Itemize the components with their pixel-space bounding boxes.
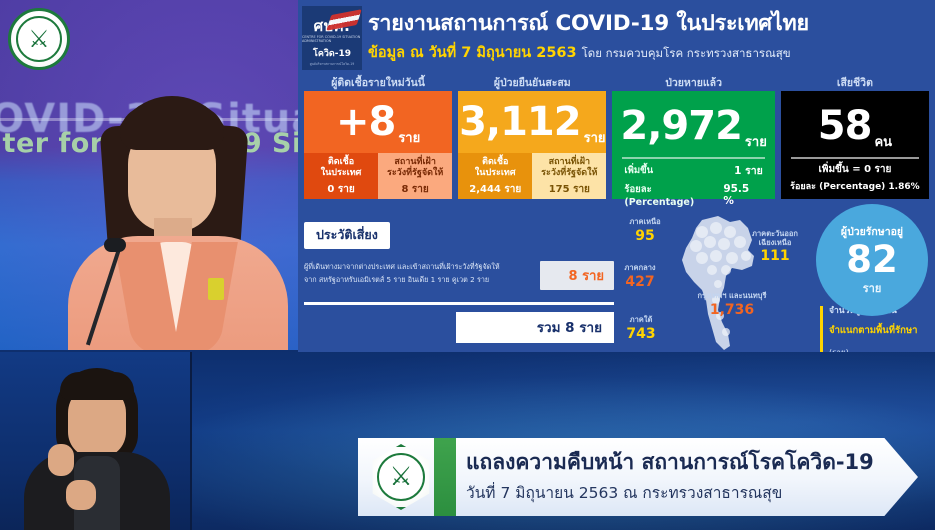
interpreter-hand-lower bbox=[66, 480, 96, 510]
map-label-south: ภาคใต้ 743 bbox=[612, 316, 670, 342]
risk-history-rule bbox=[304, 302, 614, 305]
new-cases-domestic: ติดเชื้อ ในประเทศ 0 ราย bbox=[304, 153, 378, 199]
report-date: ข้อมูล ณ วันที่ 7 มิถุนายน 2563 bbox=[368, 45, 577, 61]
total-cases-domestic: ติดเชื้อ ในประเทศ 2,444 ราย bbox=[458, 153, 532, 199]
region-value: 1,736 bbox=[672, 302, 792, 318]
deaths-caption: เสียชีวิต bbox=[781, 76, 929, 91]
map-label-central: ภาคกลาง 427 bbox=[608, 264, 672, 290]
label-line2: ระวังที่รัฐจัดให้ bbox=[541, 168, 597, 178]
label-line2: ระวังที่รัฐจัดให้ bbox=[387, 168, 443, 178]
label-line1: ติดเชื้อ bbox=[328, 157, 354, 167]
sbc-logo-sub: โควิด-19 bbox=[313, 46, 351, 60]
deaths-box: 58 คน เพิ่มขึ้น = 0 ราย ร้อยละ (Percenta… bbox=[781, 91, 929, 199]
label-line1: ติดเชื้อ bbox=[482, 157, 508, 167]
seal-inner-ring: ⚔ bbox=[377, 453, 425, 501]
total-cases-caption: ผู้ป่วยยืนยันสะสม bbox=[458, 76, 606, 91]
risk-history-tab: ประวัติเสี่ยง bbox=[304, 222, 390, 249]
region-name-line2: เฉียงเหนือ bbox=[734, 239, 816, 248]
new-cases-quarantine: สถานที่เฝ้า ระวังที่รัฐจัดให้ 8 ราย bbox=[378, 153, 452, 199]
stat-card-recovered: ป่วยหายแล้ว 2,972 ราย เพิ่มขึ้น 1 ราย ร้… bbox=[612, 76, 774, 200]
risk-history-section: ประวัติเสี่ยง ผู้ที่เดินทางมาจากต่างประเ… bbox=[304, 222, 614, 343]
interpreter-hand-upper bbox=[48, 444, 74, 476]
map-label-north: ภาคเหนือ 95 bbox=[614, 218, 676, 244]
recovered-unit: ราย bbox=[745, 131, 767, 152]
recovered-value-box: 2,972 ราย bbox=[620, 95, 766, 157]
new-cases-domestic-value: 0 ราย bbox=[327, 182, 354, 197]
risk-history-count: 8 ราย bbox=[540, 261, 614, 290]
stat-card-total-cases: ผู้ป่วยยืนยันสะสม 3,112 ราย ติดเชื้อ ในป… bbox=[458, 76, 606, 200]
sbc-logo-icon: ศบค. CENTRE FOR COVID-19 SITUATION ADMIN… bbox=[302, 6, 362, 70]
recovered-increase-value: 1 ราย bbox=[734, 162, 763, 179]
label-line2: ในประเทศ bbox=[321, 168, 362, 178]
map-label-northeast: ภาคตะวันออก เฉียงเหนือ 111 bbox=[734, 230, 816, 264]
region-name: ภาคกลาง bbox=[608, 264, 672, 273]
presenter-badge bbox=[208, 278, 224, 300]
sbc-logo-sub-en-top: CENTRE FOR COVID-19 SITUATION ADMINISTRA… bbox=[302, 36, 362, 43]
total-cases-quarantine: สถานที่เฝ้า ระวังที่รัฐจัดให้ 175 ราย bbox=[532, 153, 606, 199]
active-cases-value: 82 bbox=[846, 241, 898, 278]
deaths-value: 58 bbox=[818, 106, 872, 146]
active-cases-circle: ผู้ป่วยรักษาอยู่ 82 ราย bbox=[816, 204, 928, 316]
page-title: รายงานสถานการณ์ COVID-19 ในประเทศไทย bbox=[368, 4, 935, 36]
label-line1: สถานที่เฝ้า bbox=[394, 157, 435, 167]
label-line2: ในประเทศ bbox=[475, 168, 516, 178]
risk-desc-line2: จาก สหรัฐอาหรับเอมิเรตส์ 5 ราย อินเดีย 1… bbox=[304, 275, 489, 284]
recovered-percent-value: 95.5 % bbox=[723, 183, 763, 207]
total-cases-quarantine-value: 175 ราย bbox=[549, 182, 590, 197]
total-cases-quarantine-label: สถานที่เฝ้า ระวังที่รัฐจัดให้ bbox=[541, 157, 597, 178]
panel-header: ศบค. CENTRE FOR COVID-19 SITUATION ADMIN… bbox=[298, 0, 935, 76]
region-value: 427 bbox=[608, 274, 672, 290]
recovered-value: 2,972 bbox=[620, 106, 742, 146]
deaths-increase: เพิ่มขึ้น = 0 ราย bbox=[789, 159, 921, 177]
risk-history-body: ผู้ที่เดินทางมาจากต่างประเทศ และเข้าสถาน… bbox=[304, 261, 614, 290]
new-cases-value-box: +8 ราย bbox=[304, 91, 452, 153]
total-cases-unit: ราย bbox=[584, 127, 606, 148]
microphone-icon bbox=[104, 238, 126, 252]
caption-subtitle: วันที่ 7 มิถุนายน 2563 ณ กระทรวงสาธารณสุ… bbox=[466, 480, 874, 505]
risk-desc-line1: ผู้ที่เดินทางมาจากต่างประเทศ และเข้าสถาน… bbox=[304, 262, 500, 271]
region-value: 743 bbox=[612, 326, 670, 342]
presenter-hair-front bbox=[120, 106, 224, 150]
map-legend-line2: จำแนกตามพื้นที่รักษา bbox=[829, 325, 918, 336]
total-cases-substats: ติดเชื้อ ในประเทศ 2,444 ราย สถานที่เฝ้า … bbox=[458, 153, 606, 199]
interpreter-hair-front bbox=[60, 372, 134, 400]
recovered-percent-label: ร้อยละ (Percentage) bbox=[624, 182, 723, 208]
active-cases-unit: ราย bbox=[863, 279, 882, 297]
region-value: 95 bbox=[614, 228, 676, 244]
caduceus-icon: ⚔ bbox=[28, 27, 50, 51]
caption-text-block: แถลงความคืบหน้า สถานการณ์โรคโควิด-19 วัน… bbox=[466, 450, 874, 505]
deaths-percent: ร้อยละ (Percentage) 1.86% bbox=[789, 177, 921, 193]
new-cases-value: +8 bbox=[336, 102, 395, 142]
panel-subtitle: ข้อมูล ณ วันที่ 7 มิถุนายน 2563โดย กรมคว… bbox=[368, 41, 935, 64]
recovered-increase-row: เพิ่มขึ้น 1 ราย bbox=[620, 159, 766, 179]
sign-language-interpreter-inset bbox=[0, 352, 192, 530]
recovered-box: 2,972 ราย เพิ่มขึ้น 1 ราย ร้อยละ (Percen… bbox=[612, 91, 774, 199]
caduceus-icon: ⚔ bbox=[389, 464, 412, 490]
seal-ring: ⚔ bbox=[16, 16, 62, 62]
new-cases-quarantine-value: 8 ราย bbox=[401, 182, 428, 197]
total-cases-domestic-label: ติดเชื้อ ในประเทศ bbox=[475, 157, 516, 178]
stat-card-new-cases: ผู้ติดเชื้อรายใหม่วันนี้ +8 ราย ติดเชื้อ… bbox=[304, 76, 452, 200]
new-cases-unit: ราย bbox=[398, 127, 420, 148]
recovered-percent-row: ร้อยละ (Percentage) 95.5 % bbox=[620, 179, 766, 208]
recovered-caption: ป่วยหายแล้ว bbox=[612, 76, 774, 91]
region-value: 111 bbox=[734, 248, 816, 264]
new-cases-caption: ผู้ติดเชื้อรายใหม่วันนี้ bbox=[304, 76, 452, 91]
risk-history-description: ผู้ที่เดินทางมาจากต่างประเทศ และเข้าสถาน… bbox=[304, 261, 534, 286]
recovered-increase-label: เพิ่มขึ้น bbox=[624, 163, 653, 178]
thailand-region-map: ภาคเหนือ 95 ภาคตะวันออก เฉียงเหนือ 111 ภ… bbox=[616, 208, 816, 352]
broadcast-caption-bar: ⚔ แถลงความคืบหน้า สถานการณ์โรคโควิด-19 ว… bbox=[358, 438, 918, 516]
total-cases-value-box: 3,112 ราย bbox=[458, 91, 606, 153]
report-source: โดย กรมควบคุมโรค กระทรวงสาธารณสุข bbox=[582, 46, 791, 60]
ministry-of-public-health-seal-icon: ⚔ bbox=[8, 8, 70, 70]
total-cases-value: 3,112 bbox=[459, 102, 581, 142]
region-name: ภาคเหนือ bbox=[614, 218, 676, 227]
new-cases-substats: ติดเชื้อ ในประเทศ 0 ราย สถานที่เฝ้า ระวั… bbox=[304, 153, 452, 199]
caption-accent-stripe bbox=[434, 438, 456, 516]
label-line1: สถานที่เฝ้า bbox=[549, 157, 590, 167]
deaths-unit: คน bbox=[874, 131, 892, 152]
map-label-bangkok: กรุงเทพฯ และนนทบุรี 1,736 bbox=[672, 292, 792, 318]
statistics-row: ผู้ติดเชื้อรายใหม่วันนี้ +8 ราย ติดเชื้อ… bbox=[298, 76, 935, 200]
sbc-logo-sub-en-bottom: ศูนย์บริหารสถานการณ์โควิด-19 bbox=[310, 62, 355, 67]
region-name: ภาคใต้ bbox=[612, 316, 670, 325]
caption-title: แถลงความคืบหน้า สถานการณ์โรคโควิด-19 bbox=[466, 450, 874, 475]
stat-card-deaths: เสียชีวิต 58 คน เพิ่มขึ้น = 0 ราย ร้อยละ… bbox=[781, 76, 929, 200]
total-cases-domestic-value: 2,444 ราย bbox=[469, 182, 521, 197]
covid-infographic-panel: ศบค. CENTRE FOR COVID-19 SITUATION ADMIN… bbox=[298, 0, 935, 352]
deaths-value-box: 58 คน bbox=[789, 95, 921, 157]
region-name: กรุงเทพฯ และนนทบุรี bbox=[672, 292, 792, 301]
new-cases-quarantine-label: สถานที่เฝ้า ระวังที่รัฐจัดให้ bbox=[387, 157, 443, 178]
map-legend-unit: (ราย) bbox=[829, 348, 849, 352]
risk-history-total: รวม 8 ราย bbox=[456, 312, 614, 343]
new-cases-domestic-label: ติดเชื้อ ในประเทศ bbox=[321, 157, 362, 178]
